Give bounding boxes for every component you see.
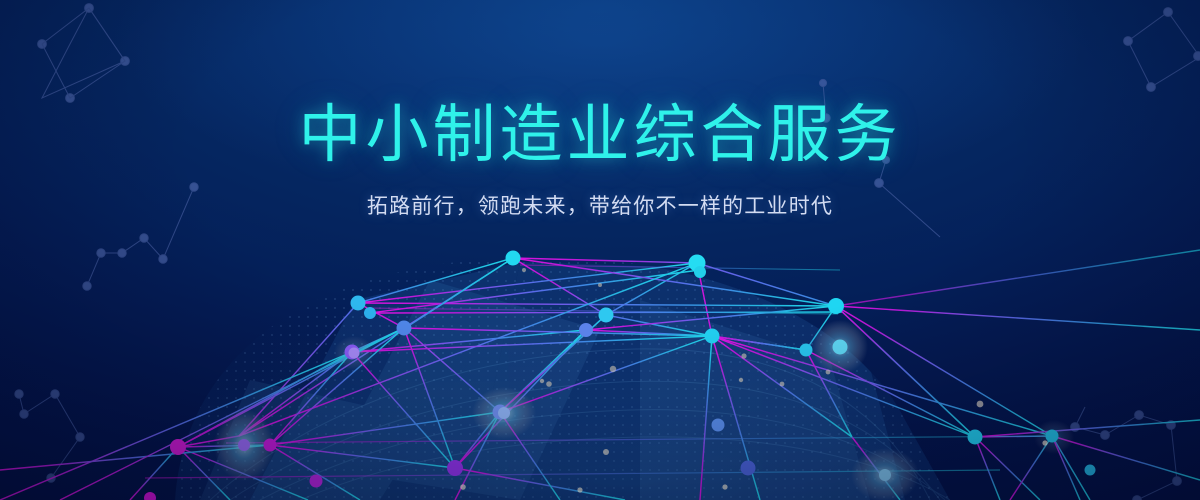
hero-banner: 中小制造业综合服务 拓路前行，领跑未来，带给你不一样的工业时代 bbox=[0, 0, 1200, 500]
speckle-layer bbox=[0, 0, 1200, 500]
